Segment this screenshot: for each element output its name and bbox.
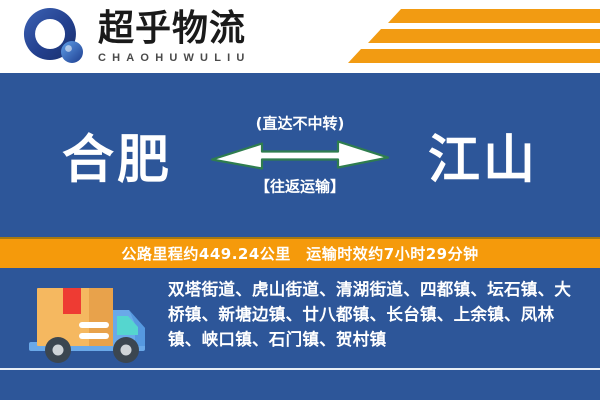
banner-header: 超乎物流 CHAOHUWULIU: [0, 0, 600, 73]
company-name-en: CHAOHUWULIU: [98, 50, 251, 66]
route-note-roundtrip: 【往返运输】: [195, 177, 405, 197]
coverage-areas-text: 双塔街道、虎山街道、清湖街道、四都镇、坛石镇、大桥镇、新塘边镇、廿八都镇、长台镇…: [168, 277, 582, 352]
stripe-2: [368, 29, 600, 43]
stripe-1: [388, 9, 600, 23]
route-middle: (直达不中转) 【往返运输】: [195, 114, 405, 197]
brand-text-block: 超乎物流 CHAOHUWULIU: [98, 9, 251, 66]
route-info-bar: 公路里程约449.24公里 运输时效约7小时29分钟: [0, 237, 600, 268]
bidirectional-arrow-icon: [210, 138, 390, 172]
distance-duration-text: 公路里程约449.24公里 运输时效约7小时29分钟: [121, 243, 478, 264]
company-name-cn: 超乎物流: [98, 9, 251, 49]
coverage-section: 双塔街道、虎山街道、清湖街道、四都镇、坛石镇、大桥镇、新塘边镇、廿八都镇、长台镇…: [0, 268, 600, 400]
bottom-divider: [0, 368, 600, 370]
brand-lockup: 超乎物流 CHAOHUWULIU: [22, 4, 251, 70]
route-note-direct: (直达不中转): [195, 114, 405, 134]
origin-city: 合肥: [62, 118, 172, 193]
destination-city: 江山: [428, 118, 538, 193]
delivery-truck-icon: [25, 280, 153, 366]
circular-q-logo-icon: [22, 6, 90, 68]
route-hero: 合肥 (直达不中转) 【往返运输】 江山: [0, 73, 600, 237]
stripe-3: [348, 49, 600, 63]
logistics-route-banner: 超乎物流 CHAOHUWULIU 合肥 (直达不中转) 【往返运输】 江山 公路…: [0, 0, 600, 400]
speed-stripes-icon: [340, 9, 600, 65]
